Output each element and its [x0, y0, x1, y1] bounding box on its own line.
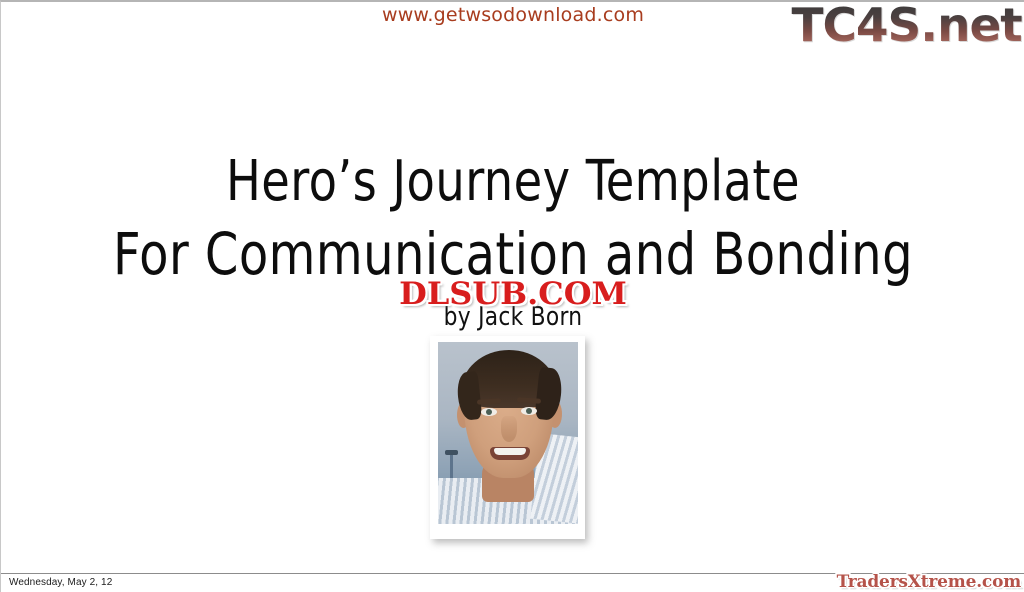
watermark-tc4s: TC4S.net [792, 0, 1022, 50]
photo-chin [486, 458, 530, 482]
photo-background-pole-top [445, 450, 458, 455]
portrait-photo-frame [430, 336, 585, 539]
watermark-dlsub: DLSUB.COM [365, 278, 661, 312]
photo-teeth [494, 448, 526, 455]
photo-mouth [490, 447, 530, 460]
photo-eye-left [481, 408, 497, 416]
presentation-slide: www.getwsodownload.com TC4S.net TC4S.net… [0, 0, 1024, 592]
watermark-dlsub-text: DLSUB.COM [361, 278, 666, 310]
slide-title-block: Hero’s Journey Template For Communicatio… [1, 146, 1024, 290]
photo-eye-right [521, 407, 537, 415]
footer-date: Wednesday, May 2, 12 [9, 577, 112, 588]
photo-nose [501, 416, 517, 442]
slide-title-line-1: Hero’s Journey Template [42, 146, 984, 218]
watermark-tradersxtreme: TradersXtreme.com [837, 572, 1021, 592]
portrait-photo [438, 342, 578, 524]
